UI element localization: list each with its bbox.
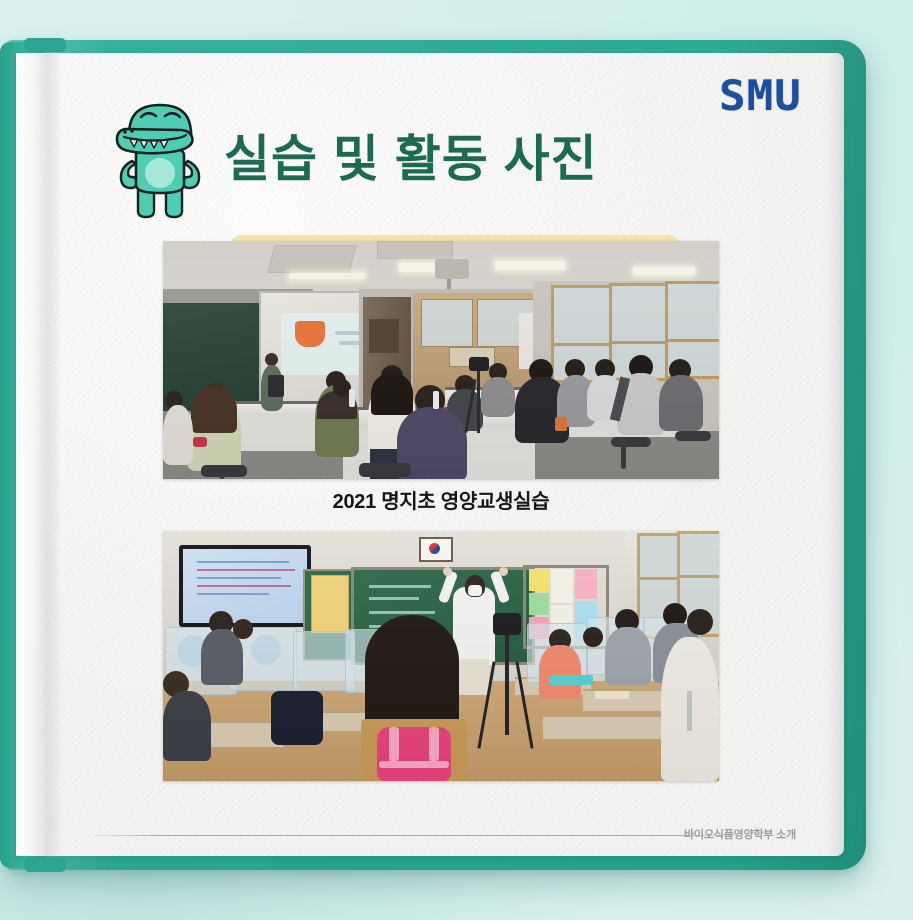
- photo2-tone: [163, 531, 719, 781]
- photo1-tone: [163, 241, 719, 479]
- footer-divider: [80, 835, 756, 836]
- page-gutter-shadow: [16, 53, 60, 856]
- activity-photo-1: [163, 241, 719, 479]
- spine-notch-top: [24, 38, 66, 52]
- slide-header: 실습 및 활동 사진: [112, 93, 672, 243]
- page-title: 실습 및 활동 사진: [224, 119, 598, 191]
- slide-content: SMU: [60, 53, 818, 856]
- smu-logo: SMU: [719, 75, 802, 117]
- page-surface: SMU: [16, 53, 844, 856]
- activity-photo-2: [163, 531, 719, 781]
- photo-1-caption: 2021 명지초 영양교생실습: [163, 485, 719, 514]
- crocodile-mascot-icon: [112, 99, 208, 219]
- footer-label: 바이오식품영양학부 소개: [684, 826, 796, 842]
- spine-notch-bottom: [24, 858, 66, 872]
- page-right-edge-shadow: [818, 53, 844, 856]
- book-container: SMU: [6, 40, 866, 870]
